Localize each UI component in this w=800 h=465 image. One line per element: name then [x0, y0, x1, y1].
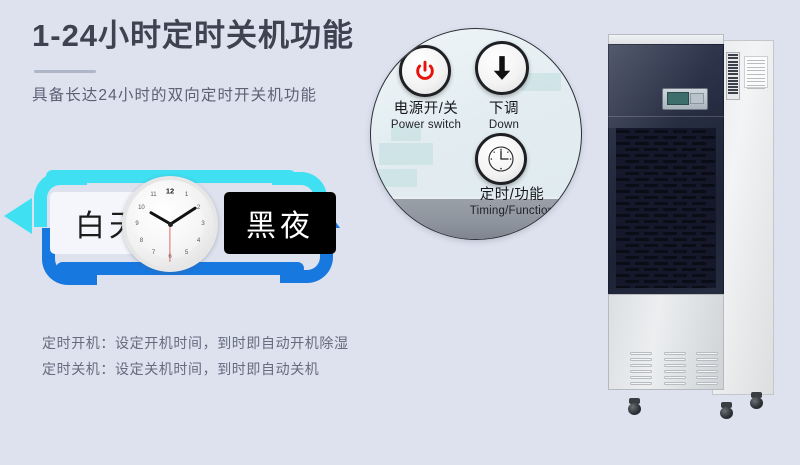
down-label-cn: 下调 [469, 101, 539, 118]
unit-caster [750, 392, 763, 409]
clock-numeral: 8 [140, 238, 143, 244]
control-panel-closeup: 电源开/关 Power switch 下调 Down 定时/功能 Timing/… [370, 28, 582, 240]
unit-vent-slot [696, 364, 718, 367]
title-divider [34, 70, 96, 73]
unit-vent-slot [664, 364, 686, 367]
headline-block: 1-24小时定时关机功能 具备长达24小时的双向定时开关机功能 [32, 16, 392, 107]
unit-side-louver [726, 52, 740, 100]
down-button[interactable] [475, 41, 529, 95]
unit-vent-group [664, 352, 686, 388]
unit-caster [720, 402, 733, 419]
unit-keypad [690, 93, 704, 104]
down-arrow-icon [491, 55, 513, 81]
list-item: 定时开机：设定开机时间，到时即自动开机除湿 [42, 330, 349, 356]
clock-numeral: 1 [185, 192, 188, 198]
clock-numeral: 5 [185, 250, 188, 256]
clock-numeral: 7 [152, 250, 155, 256]
timing-label-cn: 定时/功能 [457, 187, 567, 204]
clock-numeral: 10 [138, 205, 145, 211]
unit-lcd-screen [667, 92, 689, 105]
analog-clock-icon: 121234567891011 [122, 176, 218, 272]
page-subtitle: 具备长达24小时的双向定时开关机功能 [32, 85, 392, 107]
unit-vent-slot [664, 358, 686, 361]
unit-vent-slot [630, 382, 652, 385]
unit-vent-slot [696, 370, 718, 373]
clock-numeral: 2 [197, 205, 200, 211]
unit-vent-slot [630, 364, 652, 367]
unit-vent-slot [664, 376, 686, 379]
power-button-label: 电源开/关 Power switch [377, 101, 475, 132]
clock-center-pin [168, 222, 173, 227]
marketing-banner: 1-24小时定时关机功能 具备长达24小时的双向定时开关机功能 白天 黑夜 12… [0, 0, 800, 465]
unit-vent-slot [664, 370, 686, 373]
timing-button-label: 定时/功能 Timing/Function [457, 187, 567, 218]
unit-vent-slot [696, 352, 718, 355]
unit-vent-slot [696, 358, 718, 361]
unit-vent-slot [696, 382, 718, 385]
unit-vent-group [630, 352, 652, 388]
unit-vent-slot [630, 358, 652, 361]
clock-numeral: 4 [197, 238, 200, 244]
dehumidifier-unit [604, 30, 780, 415]
unit-vent-slot [664, 382, 686, 385]
unit-vent-slot [664, 352, 686, 355]
cyan-arrowhead-icon [4, 198, 32, 234]
unit-vent-slot [630, 352, 652, 355]
unit-air-grille [616, 128, 716, 288]
power-label-en: Power switch [377, 118, 475, 132]
unit-vent-slot [630, 376, 652, 379]
list-item: 定时关机：设定关机时间，到时即自动关机 [42, 356, 349, 382]
unit-vent-group [696, 352, 718, 388]
clock-numeral: 12 [166, 187, 174, 196]
clock-numeral: 9 [135, 221, 138, 227]
bg-rect [371, 169, 417, 187]
clock-numeral: 11 [150, 192, 156, 198]
unit-display-panel [662, 88, 708, 110]
power-label-cn: 电源开/关 [377, 101, 475, 118]
down-label-en: Down [469, 118, 539, 132]
feature-bullets: 定时开机：设定开机时间，到时即自动开机除湿 定时关机：设定关机时间，到时即自动关… [42, 330, 349, 382]
unit-panel-seam [608, 116, 724, 117]
power-button[interactable] [399, 45, 451, 97]
down-button-label: 下调 Down [469, 101, 539, 132]
night-tag: 黑夜 [224, 192, 336, 254]
timing-function-button[interactable] [475, 133, 527, 185]
unit-caster [628, 398, 641, 415]
unit-vent-slot [696, 376, 718, 379]
page-title: 1-24小时定时关机功能 [32, 16, 392, 56]
unit-vent-slot [630, 370, 652, 373]
bg-rect [379, 143, 433, 165]
timing-label-en: Timing/Function [457, 204, 567, 218]
power-icon [414, 60, 436, 82]
unit-side-label [744, 56, 768, 88]
clock-numeral: 3 [201, 221, 204, 227]
clock-icon [487, 145, 515, 173]
